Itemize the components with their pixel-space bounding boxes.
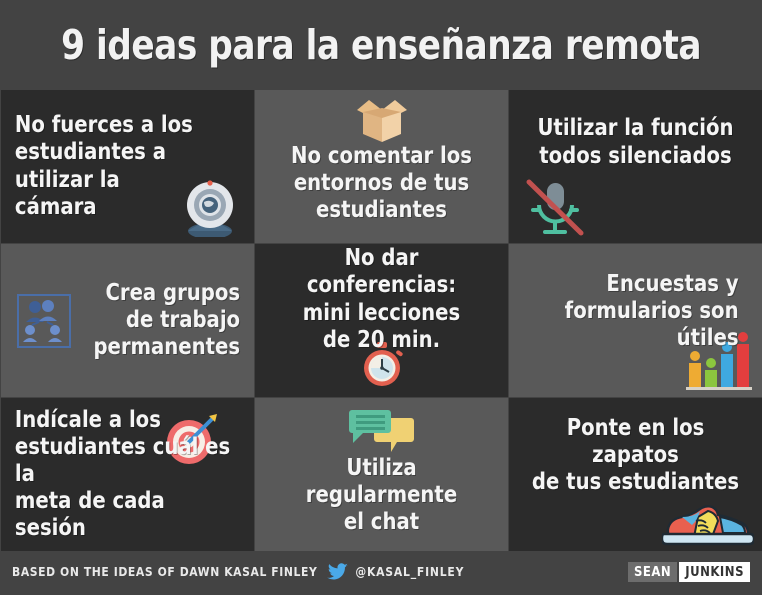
idea-card-3[interactable]: Utilizar la función todos silenciados [509,90,762,243]
cardboard-box-icon [351,96,413,146]
idea-card-7[interactable]: Indícale a los estudiantes cuál es la me… [1,398,254,551]
idea-card-3-label: Utilizar la función todos silenciados [523,115,748,169]
idea-card-5[interactable]: No dar conferencias: mini lecciones de 2… [255,244,508,397]
logo-second-word: JUNKINS [679,562,750,582]
idea-card-8-label: Utiliza regularmente el chat [269,455,494,536]
logo-first-word: SEAN [628,562,677,582]
twitter-credit[interactable]: @KASAL_FINLEY [327,563,464,581]
idea-card-1[interactable]: No fuerces a los estudiantes a utilizar … [1,90,254,243]
idea-card-4[interactable]: Crea grupos de trabajo permanentes [1,244,254,397]
twitter-handle: @KASAL_FINLEY [355,565,464,579]
idea-card-1-label: No fuerces a los estudiantes a utilizar … [15,112,240,221]
credit-text: BASED ON THE IDEAS OF DAWN KASAL FINLEY [12,565,317,579]
idea-card-2[interactable]: No comentar los entornos de tus estudian… [255,90,508,243]
page-title: 9 ideas para la enseñanza remota [61,21,701,69]
sean-junkins-logo: SEAN JUNKINS [628,562,750,582]
idea-card-7-label: Indícale a los estudiantes cuál es la me… [15,407,240,543]
idea-card-2-label: No comentar los entornos de tus estudian… [269,143,494,224]
ideas-grid: No fuerces a los estudiantes a utilizar … [0,90,762,551]
idea-card-8[interactable]: Utiliza regularmente el chat [255,398,508,551]
idea-card-9-label: Ponte en los zapatos de tus estudiantes [523,415,748,496]
idea-card-5-label: No dar conferencias: mini lecciones de 2… [269,245,494,354]
chat-bubbles-icon [347,408,417,456]
muted-microphone-icon [521,177,589,239]
idea-card-6[interactable]: Encuestas y formularios son útiles [509,244,762,397]
idea-card-6-label: Encuestas y formularios son útiles [523,271,748,370]
poster-header: 9 ideas para la enseñanza remota [0,0,762,90]
sneaker-shoe-icon [662,499,754,547]
poster-footer: BASED ON THE IDEAS OF DAWN KASAL FINLEY … [0,551,762,593]
twitter-bird-icon [327,563,349,581]
idea-card-9[interactable]: Ponte en los zapatos de tus estudiantes [509,398,762,551]
idea-card-4-label: Crea grupos de trabajo permanentes [15,280,240,361]
infographic-poster: 9 ideas para la enseñanza remota No fuer… [0,0,762,595]
